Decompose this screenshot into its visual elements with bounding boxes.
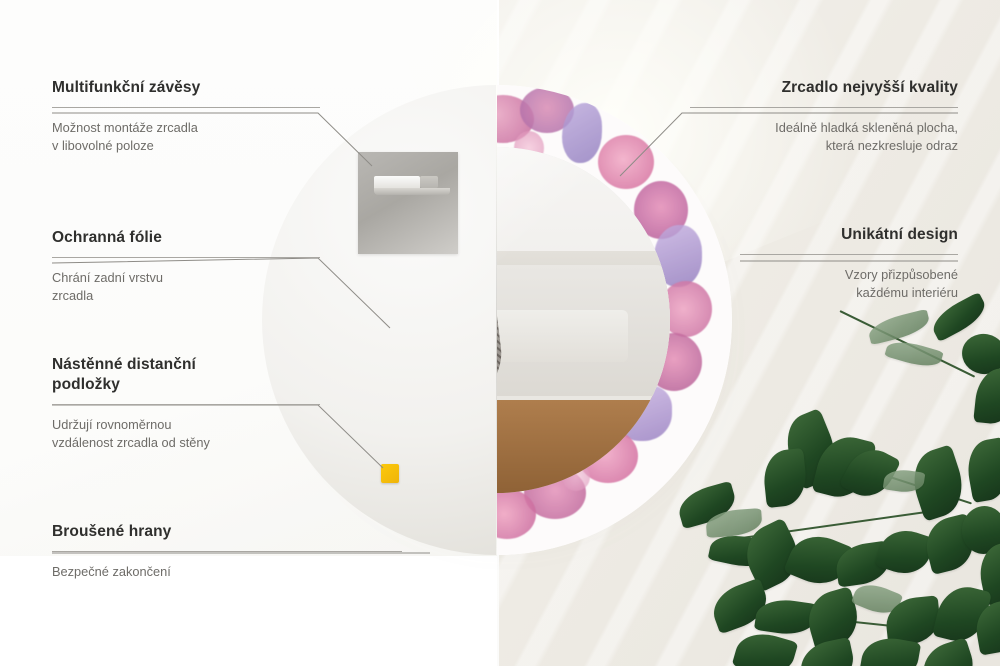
callout-desc-line2: každému interiéru (740, 284, 958, 303)
callout-rule (740, 254, 958, 255)
callout-desc-line1: Chrání zadní vrstvu (52, 269, 320, 288)
callout-rule (52, 107, 320, 108)
callout-title-line2: podložky (52, 375, 320, 395)
callout-desc-line1: Udržují rovnoměrnou (52, 416, 320, 435)
wall-spacer-pad (381, 464, 399, 483)
callout-ochranna-folie: Ochranná fólie Chrání zadní vrstvu zrcad… (52, 228, 320, 306)
infographic-canvas: Multifunkční závěsy Možnost montáže zrca… (0, 0, 1000, 666)
hanger-detail-swatch (358, 152, 458, 254)
callout-desc-line2: vzdálenost zrcadla od stěny (52, 434, 320, 453)
callout-rule (52, 404, 320, 405)
callout-zrcadlo-nejvyssi-kvality: Zrcadlo nejvyšší kvality Ideálně hladká … (690, 78, 958, 156)
callout-title: Multifunkční závěsy (52, 78, 320, 98)
callout-title: Broušené hrany (52, 522, 402, 542)
callout-desc-line1: Možnost montáže zrcadla (52, 119, 320, 138)
callout-nastenne-distancni-podlozky: Nástěnné distanční podložky Udržují rovn… (52, 355, 320, 453)
callout-rule (52, 551, 402, 552)
callout-title: Zrcadlo nejvyšší kvality (690, 78, 958, 98)
callout-title-line1: Nástěnné distanční (52, 355, 320, 375)
hanger-bar (374, 188, 450, 195)
callout-title: Ochranná fólie (52, 228, 320, 248)
callout-unikatni-design: Unikátní design Vzory přizpůsobené každé… (740, 225, 958, 303)
callout-title: Unikátní design (740, 225, 958, 245)
hanger-keyhole (420, 176, 438, 188)
decorative-foliage (690, 330, 1000, 666)
callout-rule (52, 257, 320, 258)
callout-desc-line2: v libovolné poloze (52, 137, 320, 156)
callout-multifunkcni-zavesy: Multifunkční závěsy Možnost montáže zrca… (52, 78, 320, 156)
callout-desc-line1: Bezpečné zakončení (52, 563, 402, 582)
product-mirror (262, 85, 732, 555)
callout-desc-line2: zrcadla (52, 287, 320, 306)
callout-brousene-hrany: Broušené hrany Bezpečné zakončení (52, 522, 402, 581)
callout-desc-line1: Vzory přizpůsobené (740, 266, 958, 285)
callout-desc-line2: která nezkresluje odraz (690, 137, 958, 156)
callout-desc-line1: Ideálně hladká skleněná plocha, (690, 119, 958, 138)
callout-rule (690, 107, 958, 108)
